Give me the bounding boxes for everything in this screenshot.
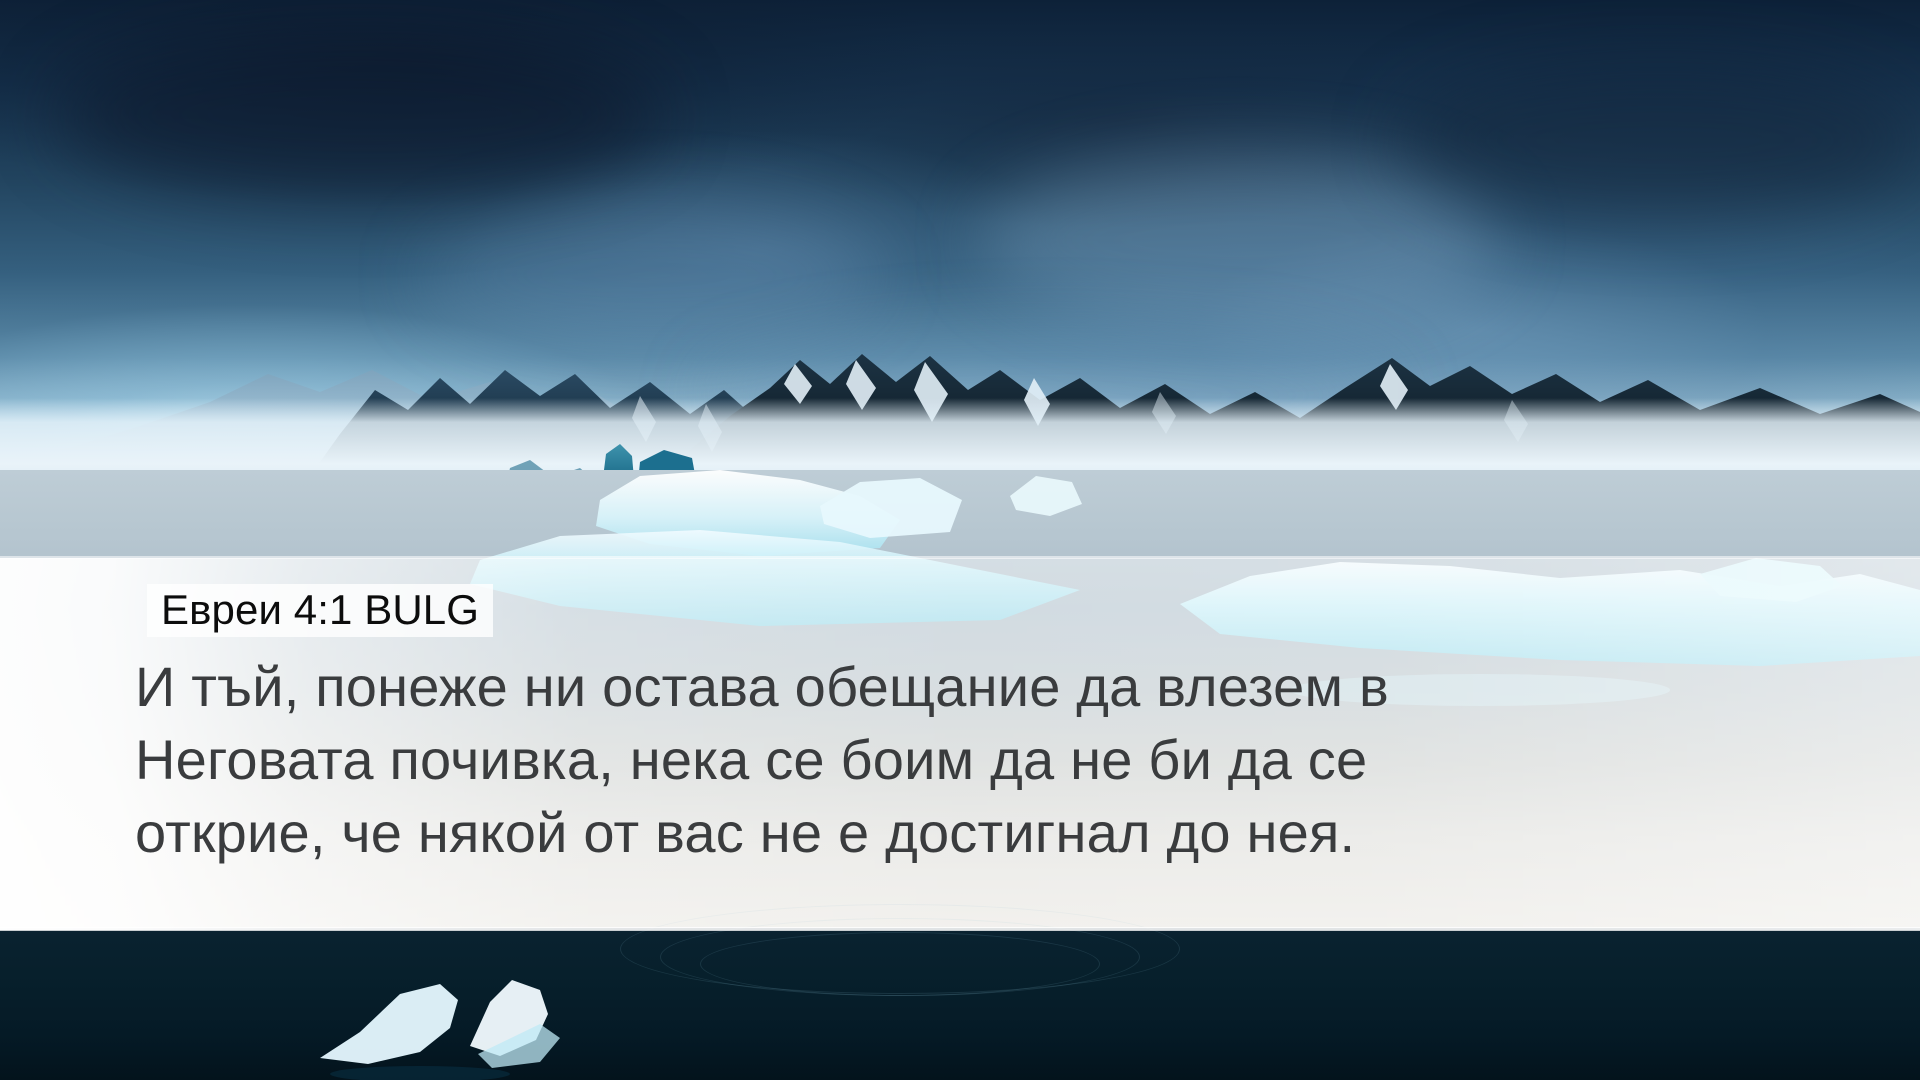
- verse-reference-badge: Евреи 4:1 BULG: [147, 584, 493, 637]
- verse-text: И тъй, понеже ни остава обещание да влез…: [135, 651, 1815, 869]
- cloud-wisp: [980, 150, 1500, 330]
- verse-reference: Евреи 4:1 BULG: [161, 586, 479, 633]
- dark-water-foreground: [0, 928, 1920, 1080]
- verse-text-block: Евреи 4:1 BULG И тъй, понеже ни остава о…: [0, 558, 1920, 930]
- cloud-wisp: [60, 30, 660, 200]
- verse-line: открие, че някой от вас не е достигнал д…: [135, 797, 1815, 870]
- verse-line: И тъй, понеже ни остава обещание да влез…: [135, 651, 1815, 724]
- cloud-wisp: [1400, 60, 1920, 220]
- verse-image-canvas: Евреи 4:1 BULG И тъй, понеже ни остава о…: [0, 0, 1920, 1080]
- verse-line: Неговата почивка, нека се боим да не би …: [135, 724, 1815, 797]
- cloud-wisp: [420, 200, 880, 350]
- small-icebergs: [0, 928, 1920, 1080]
